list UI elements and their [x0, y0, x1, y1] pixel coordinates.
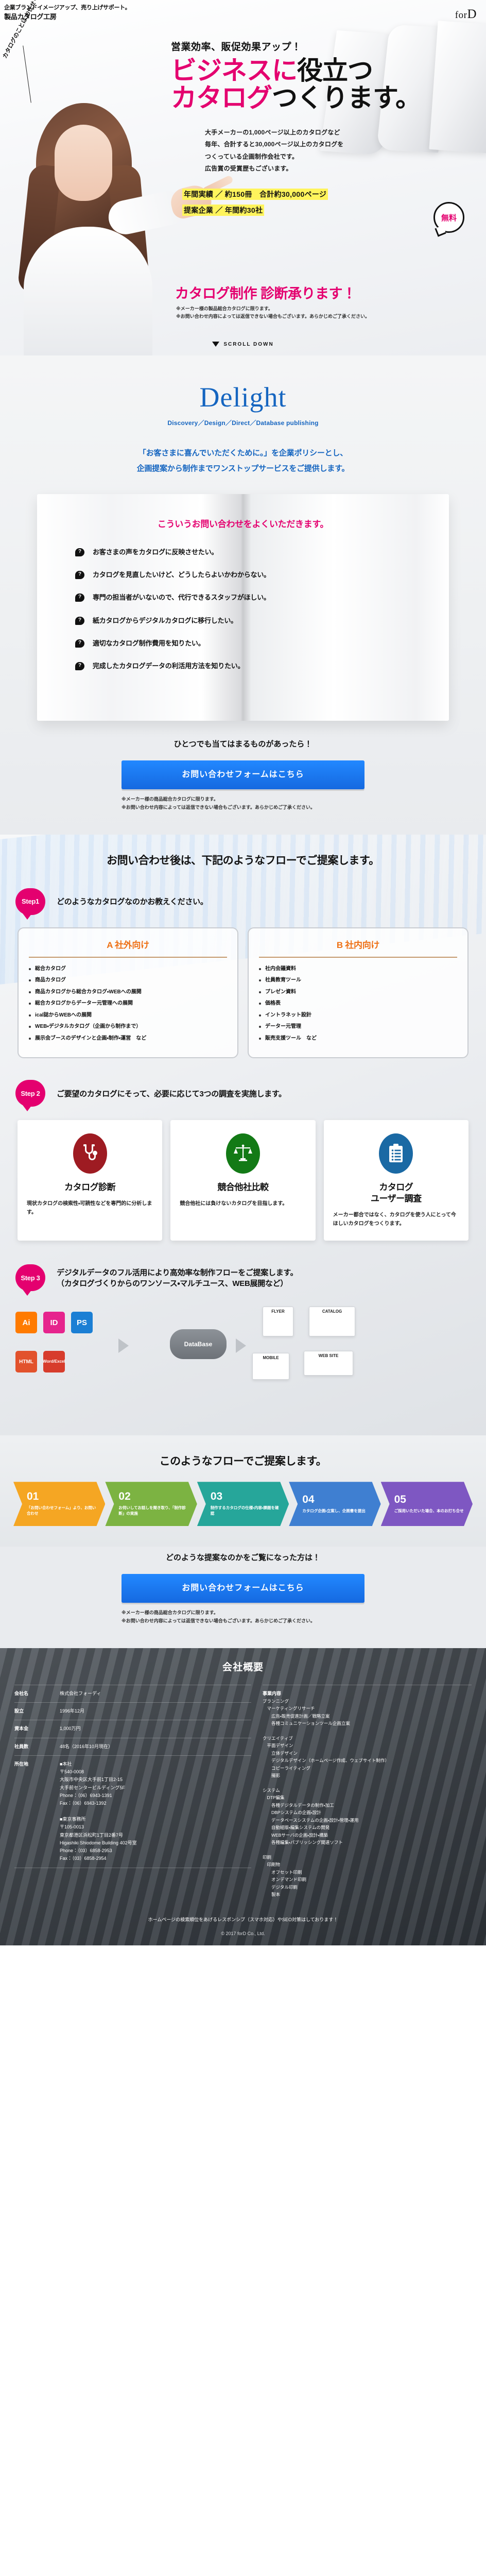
- row-value: 1,000万円: [60, 1725, 81, 1733]
- bottom-note-2: ※お問い合わせ内容によっては返信できない場合もございます。あらかじめご了承くださ…: [121, 1617, 364, 1625]
- hero-cta-headline: カタログ制作 診断承ります！: [175, 282, 356, 302]
- output-flyer: FLYER: [263, 1307, 293, 1336]
- row-value: 株式会社フォーディ: [60, 1690, 101, 1698]
- hero-notes: ※メーカー様の製品総合カタログに限ります。 ※お問い合わせ内容によっては返信でき…: [176, 305, 370, 321]
- card-catalog-diagnosis: カタログ診断 現状カタログの検索性・可読性などを専門的に分析します。: [18, 1120, 162, 1241]
- flow-step-number: 01: [27, 1491, 97, 1502]
- card-title: 競合他社比較: [180, 1182, 306, 1193]
- step1-columns: A 社外向け 総合カタログ 商品カタログ 商品カタログから総合カタログ・WEBへ…: [0, 920, 486, 1074]
- faq-item-text: お客さまの声をカタログに反映させたい。: [93, 548, 218, 557]
- card-body: 競合他社には負けないカタログを目指します。: [180, 1199, 306, 1208]
- list-item: 総合カタログからデーター元管理への展開: [29, 999, 227, 1008]
- flow-section: お問い合わせ後は、下記のようなフローでご提案します。 Step1 どのようなカタ…: [0, 835, 486, 1436]
- bottom-cta-lead: どのような提案なのかをご覧になった方は！: [0, 1552, 486, 1563]
- list-item: 紙カタログからデジタルカタログに移行したい。: [75, 616, 418, 625]
- flow-step-05: 05 ご採用いただいた場合、本のお打ち合せ: [381, 1482, 473, 1526]
- faq-item-text: 紙カタログからデジタルカタログに移行したい。: [93, 616, 237, 625]
- list-item: 商品カタログ: [29, 976, 227, 985]
- list-item: 完成したカタログデータの利活用方法を知りたい。: [75, 662, 418, 671]
- list-item: ical誌からWEBへの展開: [29, 1011, 227, 1020]
- faq-item-text: カタログを見直したいけど、どうしたらよいかわからない。: [93, 570, 270, 580]
- delight-section: Delight Discovery／Design／Direct／Database…: [0, 355, 486, 835]
- company-footnote: ホームページの検索順位をあげるレスポンシブ（スマホ対応）やSEO対策はしておりま…: [0, 1914, 486, 1931]
- hero-headline-line2-dark: つくります。: [272, 83, 421, 112]
- hero-note-2: ※お問い合わせ内容によっては返信できない場合もございます。あらかじめご了承くださ…: [176, 313, 370, 320]
- hero-headline-line1-pink: ビジネスに: [171, 56, 297, 85]
- hero-note-1: ※メーカー様の製品総合カタログに限ります。: [176, 305, 370, 313]
- list-item: 展示会ブースのデザインと企画・制作・運営 など: [29, 1035, 227, 1043]
- table-row: 所在地 ■本社 〒540-0008 大阪市中央区大手前1丁目2-15 大手前セン…: [14, 1755, 251, 1868]
- flow-step-03: 03 制作するカタログの仕様・内容・課題を確認: [197, 1482, 289, 1526]
- flow-step-01: 01 「お問い合わせフォーム」より、お問い合わせ: [13, 1482, 105, 1526]
- output-catalog: CATALOG: [309, 1307, 355, 1336]
- flow-step-number: 04: [302, 1494, 372, 1505]
- question-bubble-icon: [75, 548, 84, 556]
- flow-step-caption: お伺いしてお話しを聞き取り、「制作診断」の実施: [118, 1505, 188, 1517]
- row-key: 資本金: [14, 1725, 60, 1733]
- company-section: 会社概要 会社名 株式会社フォーディ 設立 1996年12月 資本金 1,000…: [0, 1648, 486, 1945]
- step3-text: デジタルデータのフル活用により高効率な制作フローをご提案します。 （カタログづく…: [57, 1267, 298, 1289]
- office-chip: Word/Excel: [43, 1351, 65, 1372]
- faq-list: お客さまの声をカタログに反映させたい。 カタログを見直したいけど、どうしたらよい…: [75, 548, 418, 684]
- database-node: DataBase: [170, 1329, 227, 1359]
- hero-stat-1: 年間実績 ／ 約150冊 合計約30,000ページ: [182, 189, 328, 200]
- flow-step-caption: ご採用いただいた場合、本のお打ち合せ: [394, 1509, 464, 1514]
- list-item: プレゼン資料: [259, 988, 457, 996]
- model-photo: [14, 67, 164, 355]
- step2-block: Step 2 ご要望のカタログにそって、必要に応じて3つの調査を実施します。: [0, 1074, 486, 1258]
- list-item: 商品カタログから総合カタログ・WEBへの展開: [29, 988, 227, 996]
- list-item: お客さまの声をカタログに反映させたい。: [75, 548, 418, 557]
- delight-subtitle: Discovery／Design／Direct／Database publish…: [0, 418, 486, 427]
- question-bubble-icon: [75, 617, 84, 625]
- step1-text: どのようなカタログなのかお教えください。: [57, 896, 208, 907]
- flow-step-number: 03: [211, 1491, 281, 1502]
- faq-heading: こういうお問い合わせをよくいただきます。: [37, 517, 449, 530]
- bottom-cta-notes: ※メーカー様の商品総合カタログに限ります。 ※お問い合わせ内容によっては返信でき…: [121, 1609, 364, 1625]
- list-item: カタログを見直したいけど、どうしたらよいかわからない。: [75, 570, 418, 580]
- list-item: イントラネット設計: [259, 1011, 457, 1020]
- list-item: 価格表: [259, 999, 457, 1008]
- hero-kicker: 営業効率、販促効果アップ！: [171, 39, 480, 53]
- company-title: 会社概要: [0, 1648, 486, 1683]
- contact-form-button[interactable]: お問い合わせフォームはこちら: [121, 760, 364, 789]
- card-title: カタログ診断: [27, 1182, 153, 1193]
- landing-page: 企業ブランドイメージアップ、売り上げサポート。 製品カタログ工房 forD カタ…: [0, 0, 486, 1945]
- indesign-chip: ID: [43, 1312, 65, 1333]
- delight-logo: Delight: [0, 383, 486, 411]
- row-key: 会社名: [14, 1690, 60, 1698]
- question-bubble-icon: [75, 639, 84, 648]
- open-book-graphic: こういうお問い合わせをよくいただきます。 お客さまの声をカタログに反映させたい。…: [37, 494, 449, 721]
- flow-step-caption: 「お問い合わせフォーム」より、お問い合わせ: [27, 1505, 97, 1517]
- divider: [29, 957, 227, 958]
- scroll-down-label: SCROLL DOWN: [223, 342, 273, 347]
- step3-badge: Step 3: [15, 1264, 45, 1291]
- card-title: カタログ ユーザー調査: [333, 1182, 459, 1205]
- card-competitor-comparison: 競合他社比較 競合他社には負けないカタログを目指します。: [170, 1120, 315, 1241]
- clipboard-icon: [379, 1133, 413, 1174]
- divider: [259, 957, 457, 958]
- free-badge: 無料: [433, 202, 464, 233]
- arrow-right-icon: [118, 1338, 129, 1353]
- flow-step-caption: 制作するカタログの仕様・内容・課題を確認: [211, 1505, 281, 1517]
- hero-description: 大手メーカーの1,000ページ以上のカタログなど 毎年、合計すると30,000ペ…: [205, 127, 480, 175]
- five-flow-row: 01 「お問い合わせフォーム」より、お問い合わせ 02 お伺いしてお話しを聞き取…: [0, 1482, 486, 1526]
- output-website: WEB SITE: [304, 1351, 353, 1376]
- list-item: 販売支援ツール など: [259, 1035, 457, 1043]
- stethoscope-icon: [73, 1133, 107, 1174]
- column-b-title: B 社内向け: [259, 938, 457, 951]
- column-a-external: A 社外向け 総合カタログ 商品カタログ 商品カタログから総合カタログ・WEBへ…: [18, 927, 238, 1059]
- list-item: WEB・デジタルカタログ（企画から制作まで）: [29, 1023, 227, 1031]
- list-item: 適切なカタログ制作費用を知りたい。: [75, 639, 418, 648]
- scroll-down-indicator[interactable]: SCROLL DOWN: [0, 342, 486, 347]
- column-b-internal: B 社内向け 社内会議資料 社員教育ツール プレゼン資料 価格表 イントラネット…: [248, 927, 468, 1059]
- delight-cta-lead: ひとつでも当てはまるものがあったら！: [0, 738, 486, 749]
- flow-step-02: 02 お伺いしてお話しを聞き取り、「制作診断」の実施: [105, 1482, 197, 1526]
- row-value: ■本社 〒540-0008 大阪市中央区大手前1丁目2-15 大手前センタービル…: [60, 1760, 137, 1863]
- step3-header: Step 3 デジタルデータのフル活用により高効率な制作フローをご提案します。 …: [0, 1258, 486, 1296]
- hero-copy: 営業効率、販促効果アップ！ ビジネスに役立つ カタログつくります。 大手メーカー…: [171, 39, 480, 221]
- table-row: 社員数 48名（2016年10月現在）: [14, 1738, 251, 1755]
- faq-item-text: 専門の担当者がいないので、代行できるスタッフがほしい。: [93, 593, 270, 602]
- flow-step-number: 05: [394, 1494, 464, 1505]
- row-key: 設立: [14, 1707, 60, 1715]
- faq-item-text: 完成したカタログデータの利活用方法を知りたい。: [93, 662, 244, 671]
- bottom-cta-section: どのような提案なのかをご覧になった方は！ お問い合わせフォームはこちら ※メーカ…: [0, 1547, 486, 1648]
- five-flow-title: このようなフローでご提案します。: [0, 1450, 486, 1482]
- hero-headline-line1-dark: 役立つ: [297, 56, 373, 85]
- flow-step-number: 02: [118, 1491, 188, 1502]
- list-item: 社員教育ツール: [259, 976, 457, 985]
- hero-headline: ビジネスに役立つ カタログつくります。: [171, 57, 480, 111]
- bottom-note-1: ※メーカー様の商品総合カタログに限ります。: [121, 1609, 364, 1617]
- row-key: 社員数: [14, 1743, 60, 1751]
- flow-title: お問い合わせ後は、下記のようなフローでご提案します。: [0, 835, 486, 882]
- column-a-title: A 社外向け: [29, 938, 227, 951]
- company-business-column: 事業内容 ブランニング マーケティングリサーチ 広告・販売促進計画／戦略立案 各…: [263, 1685, 472, 1899]
- delight-cta-zone: ひとつでも当てはまるものがあったら！ お問い合わせフォームはこちら ※メーカー様…: [0, 721, 486, 835]
- step1-header: Step1 どのようなカタログなのかお教えください。: [0, 882, 486, 920]
- company-info-table: 会社名 株式会社フォーディ 設立 1996年12月 資本金 1,000万円 社員…: [14, 1685, 251, 1899]
- list-item: 総合カタログ: [29, 965, 227, 973]
- faq-item-text: 適切なカタログ制作費用を知りたい。: [93, 639, 205, 648]
- step2-badge: Step 2: [15, 1080, 45, 1107]
- question-bubble-icon: [75, 662, 84, 670]
- copyright: © 2017 forD Co., Ltd.: [0, 1931, 486, 1945]
- step2-text: ご要望のカタログにそって、必要に応じて3つの調査を実施します。: [57, 1088, 286, 1099]
- business-value: ブランニング マーケティングリサーチ 広告・販売促進計画／戦略立案 各種コミュニ…: [263, 1697, 472, 1899]
- step2-cards: カタログ診断 現状カタログの検索性・可読性などを専門的に分析します。: [0, 1112, 486, 1258]
- illustrator-chip: Ai: [15, 1312, 37, 1333]
- arrow-right-icon: [236, 1338, 246, 1353]
- output-mobile: MOBILE: [252, 1353, 289, 1380]
- table-row: 会社名 株式会社フォーディ: [14, 1685, 251, 1702]
- delight-note-2: ※お問い合わせ内容によっては返信できない場合もございます。あらかじめご了承くださ…: [121, 804, 364, 812]
- question-bubble-icon: [75, 571, 84, 579]
- list-item: 専門の担当者がいないので、代行できるスタッフがほしい。: [75, 593, 418, 602]
- step1-badge: Step1: [15, 888, 45, 915]
- list-item: 社内会議資料: [259, 965, 457, 973]
- step3-block: Step 3 デジタルデータのフル活用により高効率な制作フローをご提案します。 …: [0, 1258, 486, 1422]
- table-row: 資本金 1,000万円: [14, 1720, 251, 1737]
- delight-note-1: ※メーカー様の商品総合カタログに限ります。: [121, 795, 364, 804]
- contact-form-button-bottom[interactable]: お問い合わせフォームはこちら: [121, 1574, 364, 1603]
- card-body: 現状カタログの検索性・可読性などを専門的に分析します。: [27, 1199, 153, 1217]
- brand-d-text: D: [467, 7, 477, 21]
- brand-for-text: for: [455, 10, 467, 21]
- hero-stat-2: 提案企業 ／ 年間約30社: [182, 205, 264, 216]
- delight-lead: 「お客さまに喜んでいただくために。」を企業ポリシーとし、 企画提案から制作までワ…: [0, 446, 486, 477]
- company-grid: 会社名 株式会社フォーディ 設立 1996年12月 資本金 1,000万円 社員…: [0, 1683, 486, 1914]
- five-step-flow-section: このようなフローでご提案します。 01 「お問い合わせフォーム」より、お問い合わ…: [0, 1435, 486, 1547]
- card-user-survey: カタログ ユーザー調査 メーカー都合ではなく、カタログを使う人にとって今ほしいカ…: [324, 1120, 468, 1241]
- flow-step-caption: カタログ企画・立案し、企画書を提出: [302, 1509, 372, 1514]
- chevron-down-icon: [212, 342, 219, 347]
- list-item: データー元管理: [259, 1023, 457, 1031]
- row-key: 所在地: [14, 1760, 60, 1863]
- hero-headline-line2-pink: カタログ: [171, 83, 272, 112]
- hero-section: 企業ブランドイメージアップ、売り上げサポート。 製品カタログ工房 forD カタ…: [0, 0, 486, 355]
- row-value: 1996年12月: [60, 1707, 84, 1715]
- card-body: メーカー都合ではなく、カタログを使う人にとって今ほしいカタログをつくります。: [333, 1211, 459, 1228]
- row-value: 48名（2016年10月現在）: [60, 1743, 113, 1751]
- business-key: 事業内容: [263, 1685, 472, 1697]
- brand-logo: forD: [455, 7, 477, 22]
- step2-header: Step 2 ご要望のカタログにそって、必要に応じて3つの調査を実施します。: [0, 1074, 486, 1112]
- table-row: 設立 1996年12月: [14, 1702, 251, 1720]
- photoshop-chip: PS: [71, 1312, 93, 1333]
- scales-icon: [226, 1133, 260, 1174]
- delight-cta-notes: ※メーカー様の商品総合カタログに限ります。 ※お問い合わせ内容によっては返信でき…: [121, 795, 364, 812]
- question-bubble-icon: [75, 594, 84, 602]
- step3-diagram: Ai ID PS HTML Word/Excel DataBase FLYER …: [15, 1303, 471, 1417]
- flow-step-04: 04 カタログ企画・立案し、企画書を提出: [289, 1482, 380, 1526]
- html-chip: HTML: [15, 1351, 37, 1372]
